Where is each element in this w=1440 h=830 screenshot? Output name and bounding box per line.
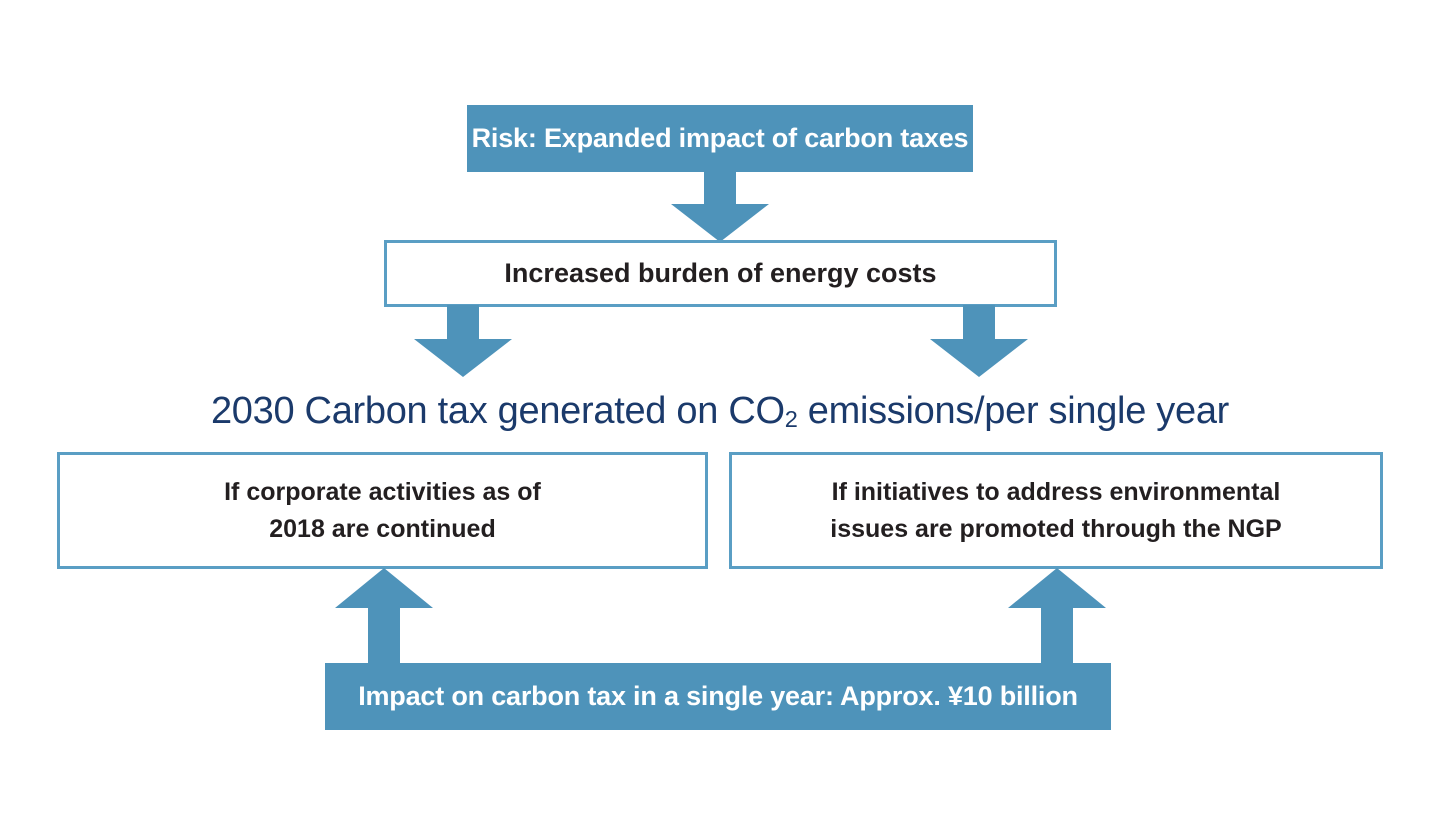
arrow-up-right-icon xyxy=(1008,568,1106,666)
heading-prefix: 2030 Carbon tax generated on CO xyxy=(211,390,785,432)
diagram-canvas: Risk: Expanded impact of carbon taxes In… xyxy=(0,0,1440,830)
impact-banner: Impact on carbon tax in a single year: A… xyxy=(325,663,1111,730)
scenario-box-ngp: If initiatives to address environmental … xyxy=(729,452,1383,569)
arrow-down-icon xyxy=(671,170,769,242)
arrow-down-left-icon xyxy=(414,305,512,377)
risk-box: Risk: Expanded impact of carbon taxes xyxy=(467,105,973,172)
scenario-baseline-text: If corporate activities as of 2018 are c… xyxy=(224,474,541,547)
energy-cost-burden-label: Increased burden of energy costs xyxy=(504,258,936,289)
heading-suffix: emissions/per single year xyxy=(798,390,1230,432)
page-title: 2030 Carbon tax generated on CO2 emissio… xyxy=(0,390,1440,433)
scenario-box-baseline: If corporate activities as of 2018 are c… xyxy=(57,452,708,569)
scenario-baseline-line1: If corporate activities as of xyxy=(224,474,541,510)
arrow-up-left-icon xyxy=(335,568,433,666)
scenario-ngp-line1: If initiatives to address environmental xyxy=(830,474,1281,510)
heading-subscript: 2 xyxy=(785,406,798,432)
scenario-baseline-line2: 2018 are continued xyxy=(224,511,541,547)
scenario-ngp-line2: issues are promoted through the NGP xyxy=(830,511,1281,547)
risk-box-label: Risk: Expanded impact of carbon taxes xyxy=(472,123,969,154)
energy-cost-burden-box: Increased burden of energy costs xyxy=(384,240,1057,307)
impact-banner-label: Impact on carbon tax in a single year: A… xyxy=(358,681,1078,712)
scenario-ngp-text: If initiatives to address environmental … xyxy=(830,474,1281,547)
arrow-down-right-icon xyxy=(930,305,1028,377)
